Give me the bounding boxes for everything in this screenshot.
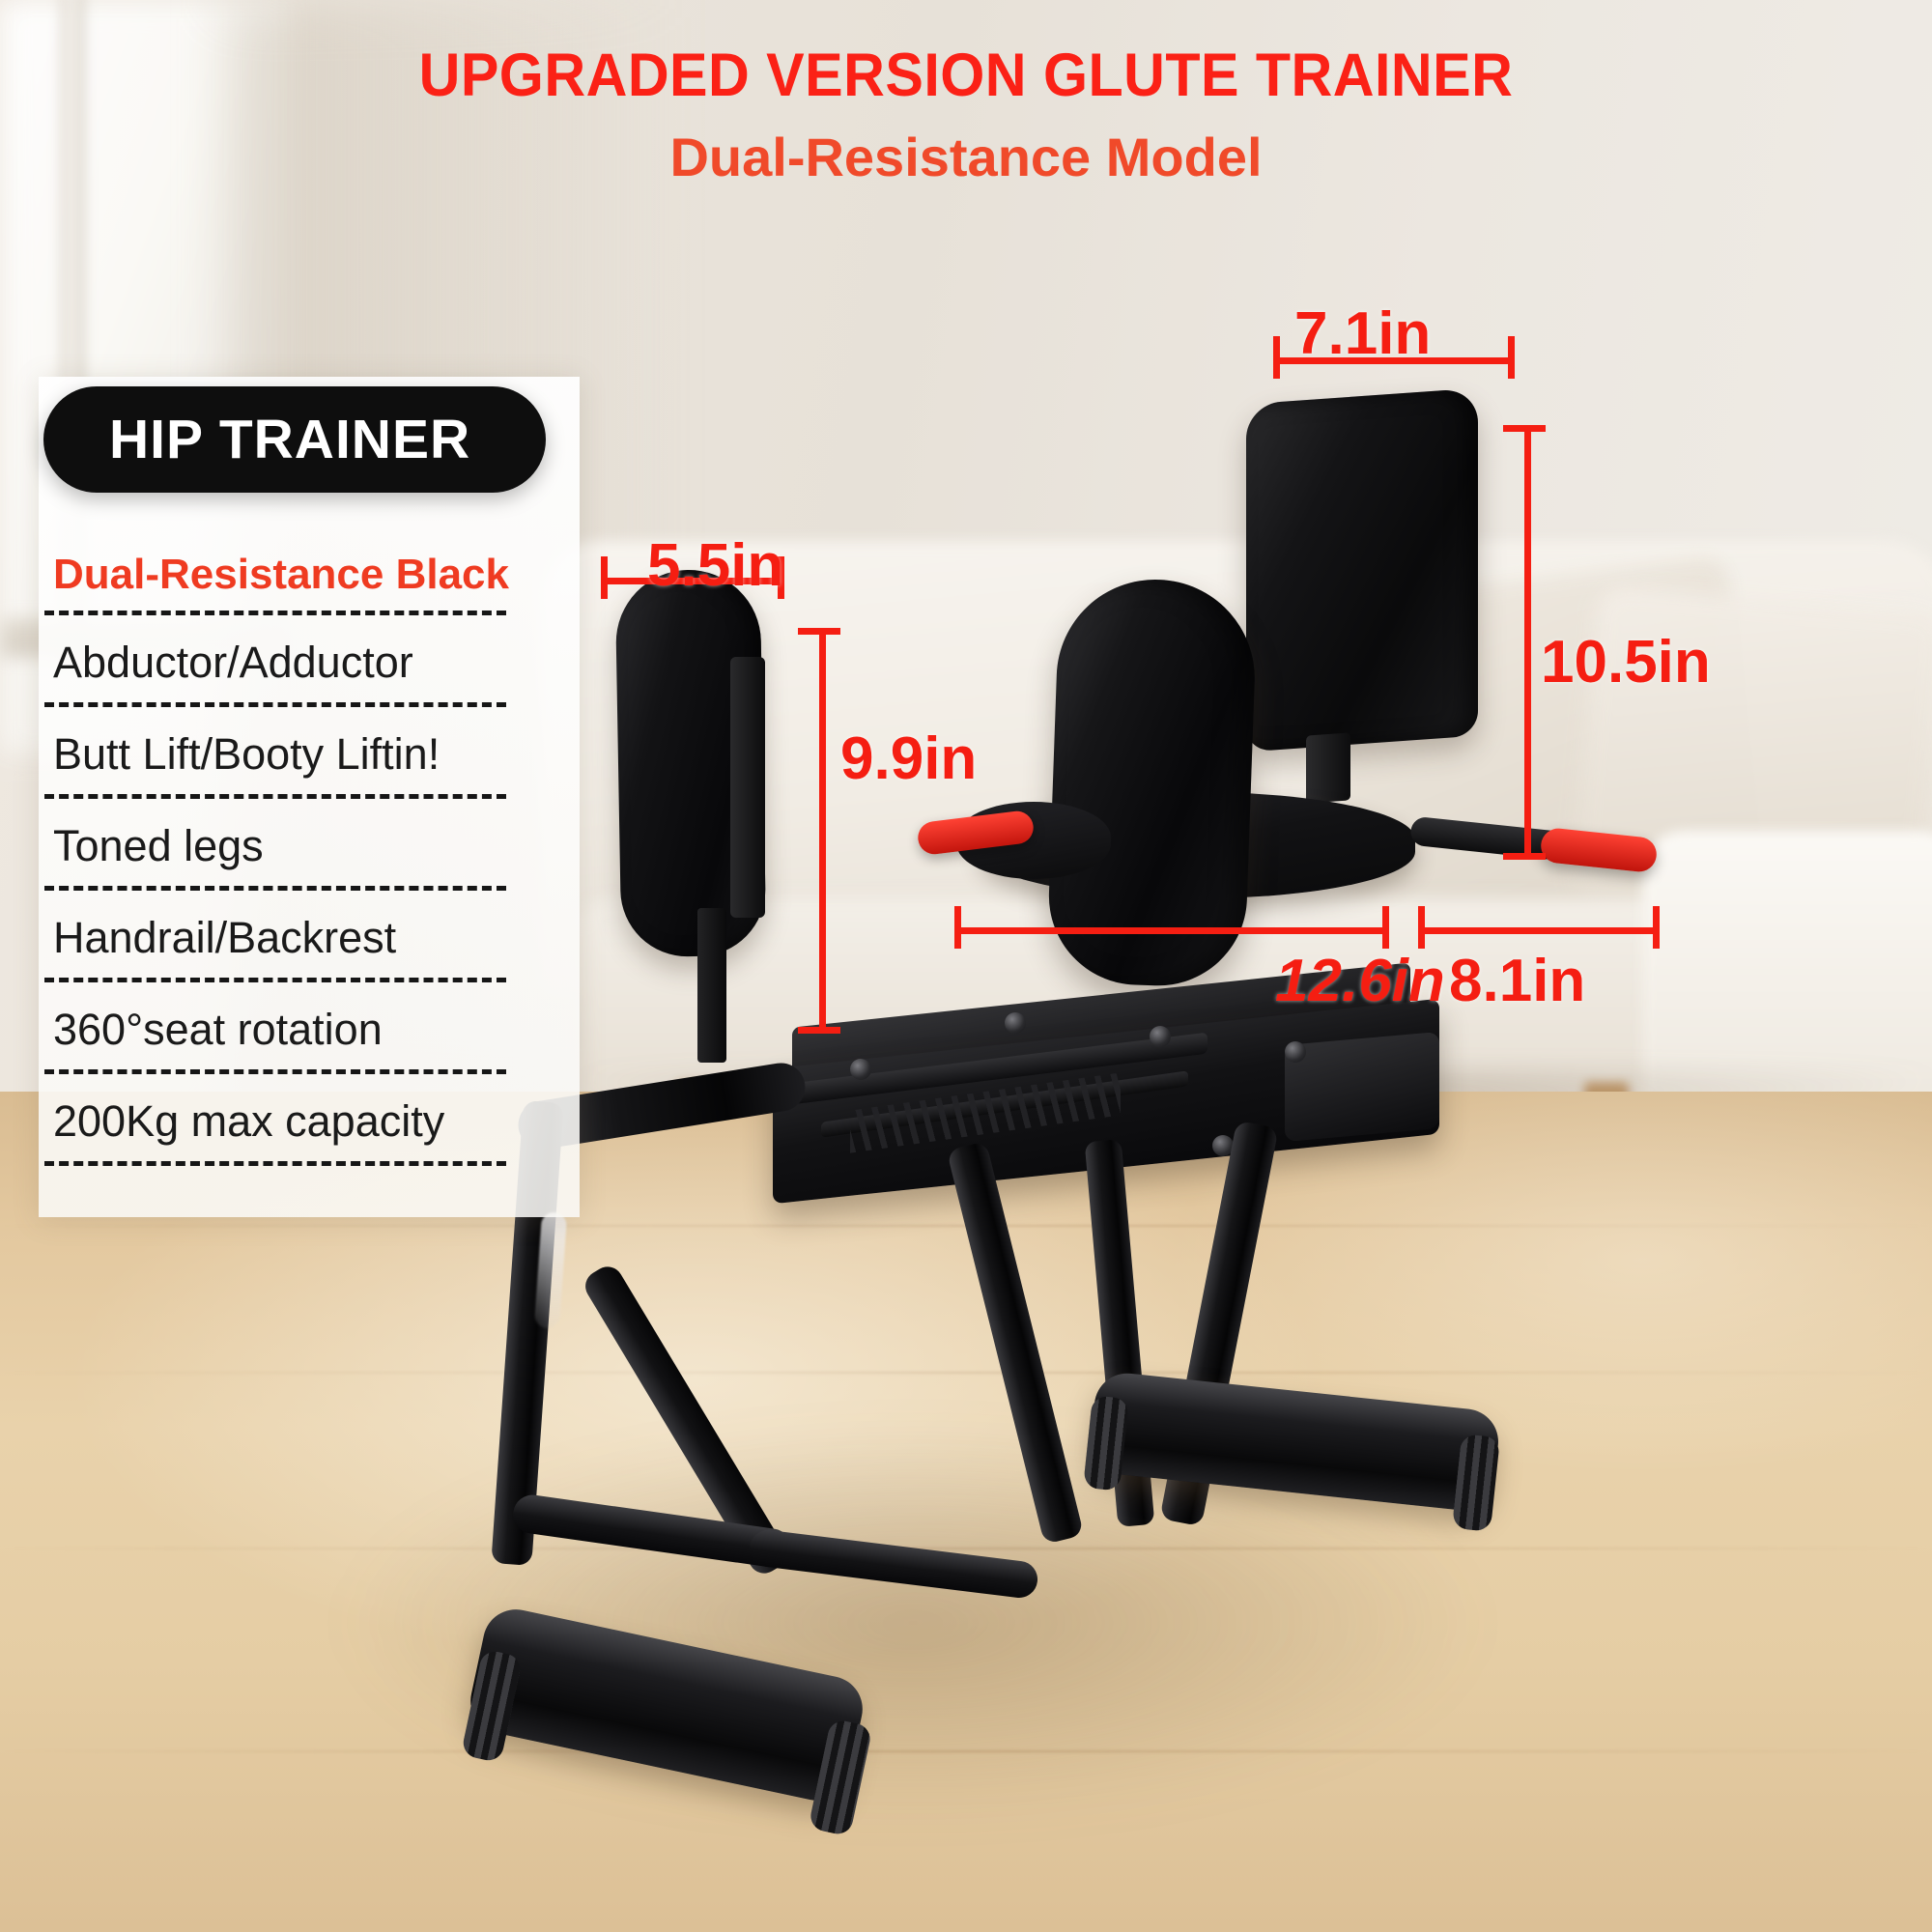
dimension-label-10.5in: 10.5in [1541, 628, 1711, 696]
divider [44, 1161, 506, 1166]
left-pad-bracket [730, 657, 765, 918]
dimension-cap [954, 906, 961, 949]
dimension-label-8.1in: 8.1in [1449, 947, 1585, 1015]
dimension-line-10.5in [1524, 425, 1531, 860]
dimension-cap [1273, 336, 1280, 379]
feature-item-seat-rotation: 360°seat rotation [53, 1005, 555, 1055]
feature-item-abductor-adductor: Abductor/Adductor [53, 638, 555, 688]
product-marketing-image: UPGRADED VERSION GLUTE TRAINER Dual-Resi… [0, 0, 1932, 1932]
hip-trainer-badge-label: HIP TRAINER [43, 408, 470, 471]
divider [44, 978, 506, 982]
dimension-cap [601, 556, 608, 599]
divider [44, 611, 506, 615]
front-right-leg [947, 1141, 1084, 1545]
dimension-cap [1382, 906, 1389, 949]
dimension-line-8.1in [1418, 927, 1660, 934]
feature-item-toned-legs: Toned legs [53, 821, 555, 871]
feature-item-handrail-backrest: Handrail/Backrest [53, 913, 555, 963]
dimension-label-9.9in: 9.9in [840, 724, 977, 793]
right-red-grip [1539, 827, 1658, 873]
dimension-label-5.5in: 5.5in [647, 531, 783, 600]
dimension-cap [1508, 336, 1515, 379]
dimension-line-9.9in [819, 628, 826, 1034]
bolt [1150, 1026, 1171, 1047]
backrest-pad [1246, 388, 1478, 753]
feature-item-butt-lift: Butt Lift/Booty Liftin! [53, 729, 555, 780]
divider [44, 702, 506, 707]
dimension-line-12.6in [954, 927, 1389, 934]
resistance-adjuster-block [1285, 1032, 1439, 1142]
dimension-cap [1418, 906, 1425, 949]
divider [44, 794, 506, 799]
divider [44, 886, 506, 891]
dimension-cap [798, 628, 840, 635]
dimension-label-12.6in: 12.6in [1275, 947, 1445, 1015]
divider [44, 1069, 506, 1074]
left-pad-post [697, 908, 726, 1063]
dimension-cap [1653, 906, 1660, 949]
feature-item-max-capacity: 200Kg max capacity [53, 1096, 555, 1147]
dimension-label-7.1in: 7.1in [1294, 299, 1431, 368]
lower-crossbar [748, 1528, 1039, 1600]
dimension-cap [1503, 853, 1546, 860]
dimension-cap [1503, 425, 1546, 432]
bolt [1285, 1041, 1306, 1063]
panel-heading: Dual-Resistance Black [53, 551, 555, 599]
dimension-cap [798, 1027, 840, 1034]
backrest-support-post [1306, 732, 1350, 803]
bolt [850, 1059, 871, 1080]
front-stabilizer-tube [465, 1604, 868, 1806]
bolt [1005, 1012, 1026, 1034]
hip-trainer-badge: HIP TRAINER [43, 386, 546, 493]
